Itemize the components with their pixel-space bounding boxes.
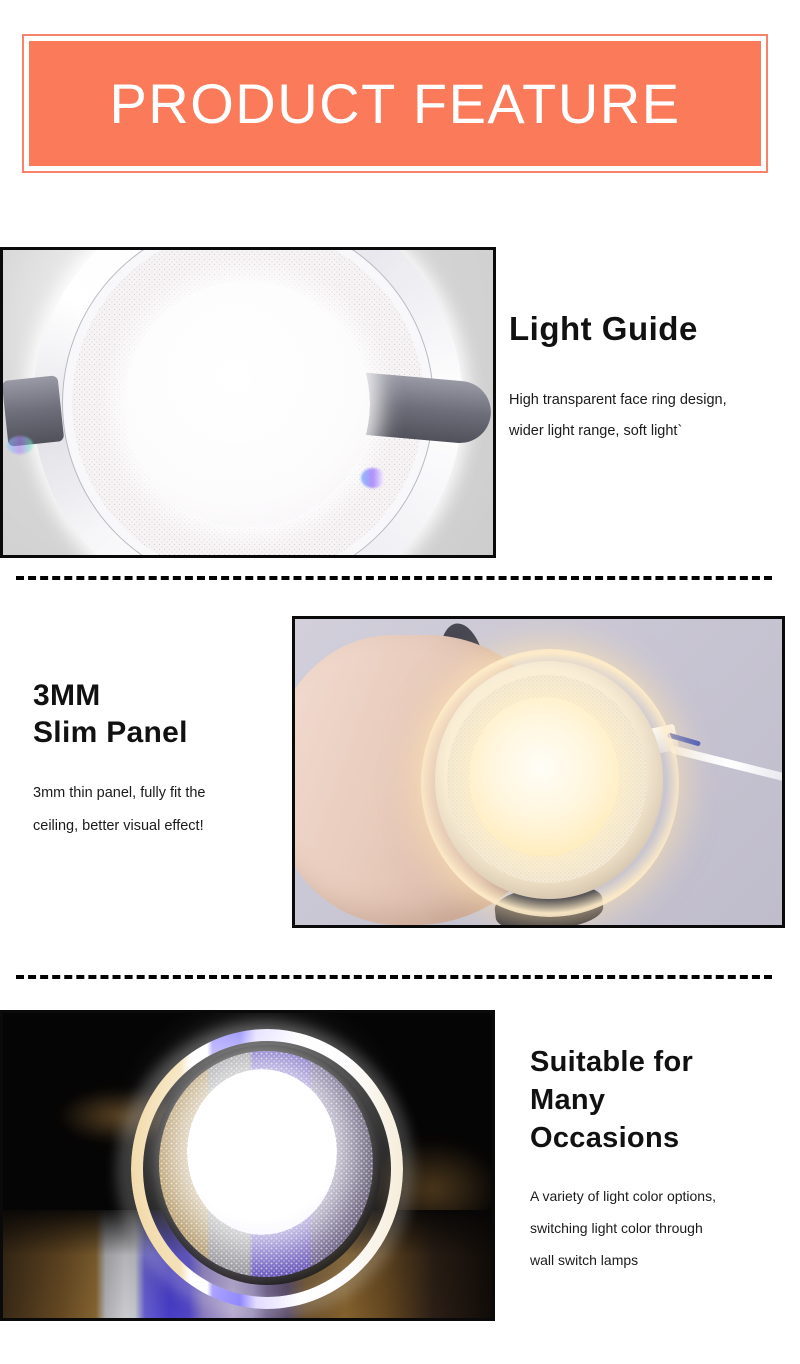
mounting-clip-right — [357, 372, 494, 445]
body-line: High transparent face ring design, — [509, 385, 794, 416]
section-heading-light-guide: Light Guide — [509, 309, 794, 349]
banner-fill: PRODUCT FEATURE — [29, 41, 761, 166]
section-heading-slim-panel-line1: 3MM — [33, 677, 283, 714]
section-heading-occasions-line2: Many — [530, 1081, 795, 1119]
downlight-warm-light — [469, 697, 619, 857]
body-line: 3mm thin panel, fully fit the — [33, 777, 283, 810]
section-body-slim-panel: 3mm thin panel, fully fit the ceiling, b… — [33, 777, 283, 843]
section-heading-slim-panel-line2: Slim Panel — [33, 714, 283, 751]
section-heading-occasions-line1: Suitable for — [530, 1043, 795, 1081]
light-guide-text-block: Light Guide High transparent face ring d… — [509, 309, 794, 447]
section-divider — [16, 975, 772, 979]
mounting-clip-left — [2, 375, 65, 446]
section-heading-occasions-line3: Occasions — [530, 1119, 795, 1157]
body-line: A variety of light color options, — [530, 1180, 795, 1212]
many-occasions-product-image — [0, 1010, 495, 1321]
product-feature-banner: PRODUCT FEATURE — [22, 34, 768, 173]
downlight-diffuser-center — [124, 281, 370, 527]
body-line: wall switch lamps — [530, 1244, 795, 1276]
body-line: wider light range, soft light` — [509, 416, 794, 447]
prism-highlight-right — [361, 468, 385, 488]
light-guide-product-image — [0, 247, 496, 558]
downlight-center-light — [187, 1069, 337, 1235]
section-body-occasions: A variety of light color options, switch… — [530, 1180, 795, 1276]
page-title: PRODUCT FEATURE — [109, 76, 680, 132]
slim-panel-product-image — [292, 616, 785, 928]
slim-panel-text-block: 3MM Slim Panel 3mm thin panel, fully fit… — [33, 677, 283, 843]
section-divider — [16, 576, 772, 580]
body-line: switching light color through — [530, 1212, 795, 1244]
product-feature-page: PRODUCT FEATURE Light Guide High transpa… — [0, 0, 800, 1364]
many-occasions-text-block: Suitable for Many Occasions A variety of… — [530, 1043, 795, 1276]
body-line: ceiling, better visual effect! — [33, 810, 283, 843]
prism-highlight-left — [7, 436, 33, 454]
section-body-light-guide: High transparent face ring design, wider… — [509, 385, 794, 447]
